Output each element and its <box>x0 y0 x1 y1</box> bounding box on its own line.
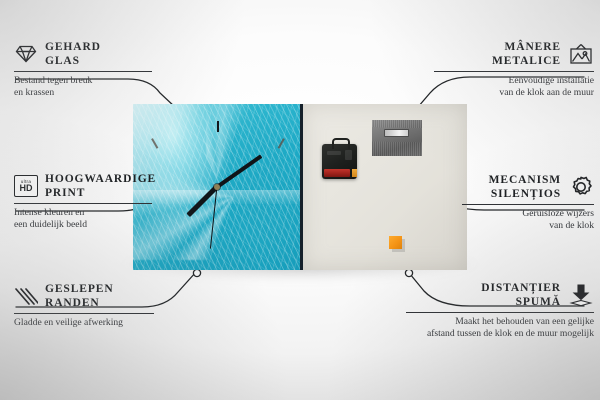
beveled-edge-icon <box>14 286 38 306</box>
callout-title: GEHARD GLAS <box>45 40 101 68</box>
callout-desc: Bestand tegen breuk en krassen <box>14 75 152 98</box>
callout-hoogwaardige-print: ultra HD HOOGWAARDIGE PRINT Intense kleu… <box>14 172 152 230</box>
clock-dial <box>133 104 300 270</box>
callout-rule <box>406 312 594 313</box>
callout-geslepen-randen: GESLEPEN RANDEN Gladde en veilige afwerk… <box>14 282 154 329</box>
ultra-hd-icon: ultra HD <box>14 175 38 197</box>
glass-clock-face <box>133 104 303 270</box>
callout-rule <box>14 71 152 72</box>
callout-desc: Eenvoudige installatie van de klok aan d… <box>434 75 594 98</box>
diamond-icon <box>14 44 38 64</box>
callout-title: DISTANȚIER SPUMĂ <box>481 281 561 309</box>
callout-title: MECANISM SILENȚIOS <box>489 173 561 201</box>
ultra-hd-icon-large-text: HD <box>20 184 33 193</box>
callout-desc: Maakt het behouden van een gelijke afsta… <box>406 316 594 339</box>
down-arrow-pad-icon <box>568 283 594 307</box>
callout-title: MÂNERE METALICE <box>492 40 561 68</box>
callout-rule <box>14 313 154 314</box>
clock-back-view <box>303 104 467 270</box>
callout-title: HOOGWAARDIGE PRINT <box>45 172 156 200</box>
callout-rule <box>14 203 152 204</box>
foam-spacer <box>389 236 402 249</box>
hanger-slot <box>384 129 409 137</box>
clock-hand-cap <box>214 184 220 190</box>
mechanism-hanger-loop <box>332 138 350 149</box>
callout-title: GESLEPEN RANDEN <box>45 282 114 310</box>
product-image <box>133 104 467 270</box>
hanging-picture-icon <box>568 43 594 65</box>
mechanism-detail <box>345 150 352 160</box>
callout-rule <box>434 71 594 72</box>
battery-terminal <box>352 169 357 177</box>
metal-hanger-plate <box>372 120 422 156</box>
callout-desc: Intense kleuren en een duidelijk beeld <box>14 207 152 230</box>
infographic-canvas: GEHARD GLAS Bestand tegen breuk en krass… <box>0 0 600 400</box>
callout-distantier-spuma: DISTANȚIER SPUMĂ Maakt het behouden van … <box>406 281 594 339</box>
quartz-mechanism <box>322 144 357 179</box>
callout-desc: Geruisloze wijzers van de klok <box>462 208 594 231</box>
callout-manere-metalice: MÂNERE METALICE Eenvoudige installatie v… <box>434 40 594 98</box>
clock-minute-hand <box>215 154 262 188</box>
callout-rule <box>462 204 594 205</box>
callout-mecanism-silentios: MECANISM SILENȚIOS Geruisloze wijzers va… <box>462 173 594 231</box>
mechanism-detail <box>327 151 341 155</box>
callout-desc: Gladde en veilige afwerking <box>14 317 154 329</box>
battery <box>324 169 350 177</box>
gear-icon <box>568 175 594 199</box>
callout-gehard-glas: GEHARD GLAS Bestand tegen breuk en krass… <box>14 40 152 98</box>
